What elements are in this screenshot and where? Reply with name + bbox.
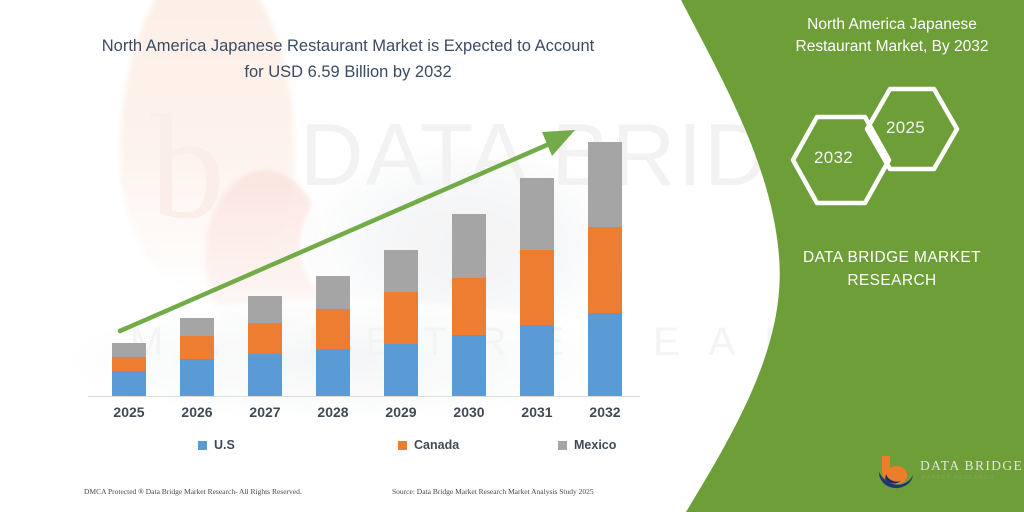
bar-segment-mexico-2030 — [452, 214, 486, 278]
bar-segment-canada-2029 — [384, 292, 418, 344]
x-axis-label-2032: 2032 — [575, 404, 635, 420]
bar-segment-mexico-2028 — [316, 276, 350, 309]
legend-item-mexico[interactable]: Mexico — [558, 438, 616, 452]
hexagon-2025: 2025 — [864, 86, 960, 172]
footer-source: Source: Data Bridge Market Research Mark… — [392, 487, 594, 496]
bar-segment-us-2025 — [112, 371, 146, 396]
logo-subtitle: MARKET RESEARCH — [921, 475, 994, 481]
hexagon-2032-label: 2032 — [814, 148, 853, 168]
hexagon-group: 2032 2025 — [776, 92, 1008, 202]
bar-segment-us-2027 — [248, 354, 282, 396]
bar-segment-canada-2032 — [588, 227, 622, 313]
legend-swatch-icon — [198, 441, 207, 450]
bar-2028 — [316, 276, 350, 396]
panel-title: North America Japanese Restaurant Market… — [776, 14, 1008, 59]
bar-segment-canada-2025 — [112, 357, 146, 371]
x-axis-label-2026: 2026 — [167, 404, 227, 420]
bar-segment-mexico-2031 — [520, 178, 554, 250]
logo-wordmark: DATA BRIDGE — [920, 458, 1023, 474]
bar-2031 — [520, 178, 554, 396]
bar-segment-canada-2027 — [248, 323, 282, 354]
bar-2030 — [452, 214, 486, 396]
x-axis-label-2031: 2031 — [507, 404, 567, 420]
bar-segment-us-2028 — [316, 349, 350, 396]
bar-segment-canada-2028 — [316, 309, 350, 349]
x-axis-label-2027: 2027 — [235, 404, 295, 420]
bar-2029 — [384, 250, 418, 396]
bar-segment-mexico-2025 — [112, 343, 146, 357]
bar-2027 — [248, 296, 282, 396]
legend-label: U.S — [214, 438, 235, 452]
chart-legend: U.SCanadaMexico — [88, 438, 640, 458]
x-axis-label-2030: 2030 — [439, 404, 499, 420]
legend-label: Mexico — [574, 438, 616, 452]
hexagon-2025-label: 2025 — [886, 118, 925, 138]
bar-segment-us-2026 — [180, 359, 214, 396]
data-bridge-logo: DATA BRIDGE MARKET RESEARCH — [876, 452, 1006, 494]
bar-segment-canada-2026 — [180, 336, 214, 359]
legend-swatch-icon — [558, 441, 567, 450]
bar-segment-us-2029 — [384, 344, 418, 396]
legend-item-canada[interactable]: Canada — [398, 438, 459, 452]
bar-segment-mexico-2029 — [384, 250, 418, 292]
panel-content: North America Japanese Restaurant Market… — [700, 0, 1024, 512]
x-axis-label-2029: 2029 — [371, 404, 431, 420]
legend-label: Canada — [414, 438, 459, 452]
infographic-canvas: b DATA BRIDGE M A R K E T R E S E A R C … — [0, 0, 1024, 512]
legend-item-us[interactable]: U.S — [198, 438, 235, 452]
logo-mark-icon — [876, 454, 918, 492]
x-axis-label-2025: 2025 — [99, 404, 159, 420]
bar-2026 — [180, 318, 214, 396]
bar-segment-mexico-2026 — [180, 318, 214, 336]
bar-segment-canada-2031 — [520, 250, 554, 325]
footer-copyright: DMCA Protected ® Data Bridge Market Rese… — [84, 487, 302, 496]
bar-segment-us-2030 — [452, 335, 486, 396]
stacked-bar-chart: 20252026202720282029203020312032 U.SCana… — [0, 0, 700, 470]
bar-segment-mexico-2027 — [248, 296, 282, 323]
bar-segment-us-2031 — [520, 325, 554, 396]
bar-2025 — [112, 343, 146, 396]
bar-2032 — [588, 142, 622, 396]
bar-segment-mexico-2032 — [588, 142, 622, 227]
x-axis-line — [88, 396, 640, 397]
bar-segment-canada-2030 — [452, 278, 486, 335]
panel-brand-name: DATA BRIDGE MARKET RESEARCH — [766, 246, 1018, 293]
x-axis-label-2028: 2028 — [303, 404, 363, 420]
legend-swatch-icon — [398, 441, 407, 450]
bar-segment-us-2032 — [588, 313, 622, 396]
